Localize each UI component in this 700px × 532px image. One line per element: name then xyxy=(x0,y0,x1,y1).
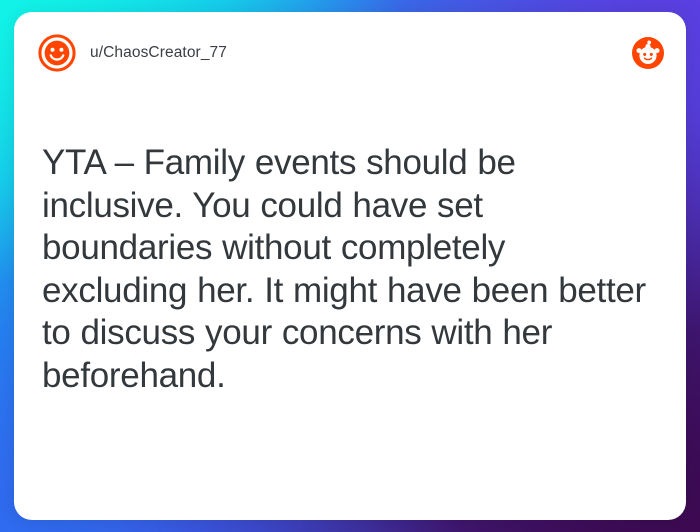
smiley-face-avatar-icon[interactable] xyxy=(38,34,76,72)
screenshot-root: u/ChaosCreator_77 YTA – Family xyxy=(0,0,700,532)
post-body: YTA – Family events should be inclusive.… xyxy=(14,142,686,397)
card-header: u/ChaosCreator_77 xyxy=(14,12,686,94)
reddit-comment-card: u/ChaosCreator_77 YTA – Family xyxy=(14,12,686,520)
reddit-snoo-logo-icon[interactable] xyxy=(632,37,664,69)
post-text: YTA – Family events should be inclusive.… xyxy=(42,142,658,397)
username-label: u/ChaosCreator_77 xyxy=(90,44,227,62)
